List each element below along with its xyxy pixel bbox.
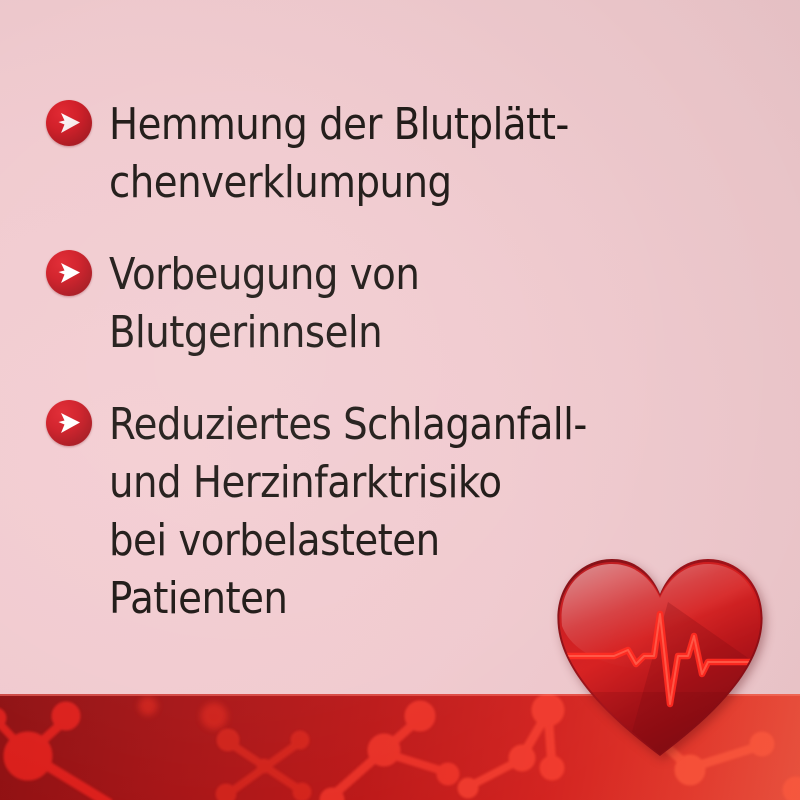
benefit-list-poster: Hemmung der Blutplätt- chenverklumpung V… [0,0,800,800]
heart-with-ecg-icon [552,552,768,760]
list-item: Vorbeugung von Blutgerinnseln [46,246,780,362]
chevron-right-icon [46,400,92,446]
chevron-right-icon [46,250,92,296]
heart-bottom-shade [552,692,768,760]
chevron-right-icon [46,100,92,146]
list-item: Hemmung der Blutplätt- chenverklumpung [46,96,780,212]
list-item-label: Hemmung der Blutplätt- chenverklumpung [109,96,699,212]
list-item-label: Vorbeugung von Blutgerinnseln [109,246,699,362]
